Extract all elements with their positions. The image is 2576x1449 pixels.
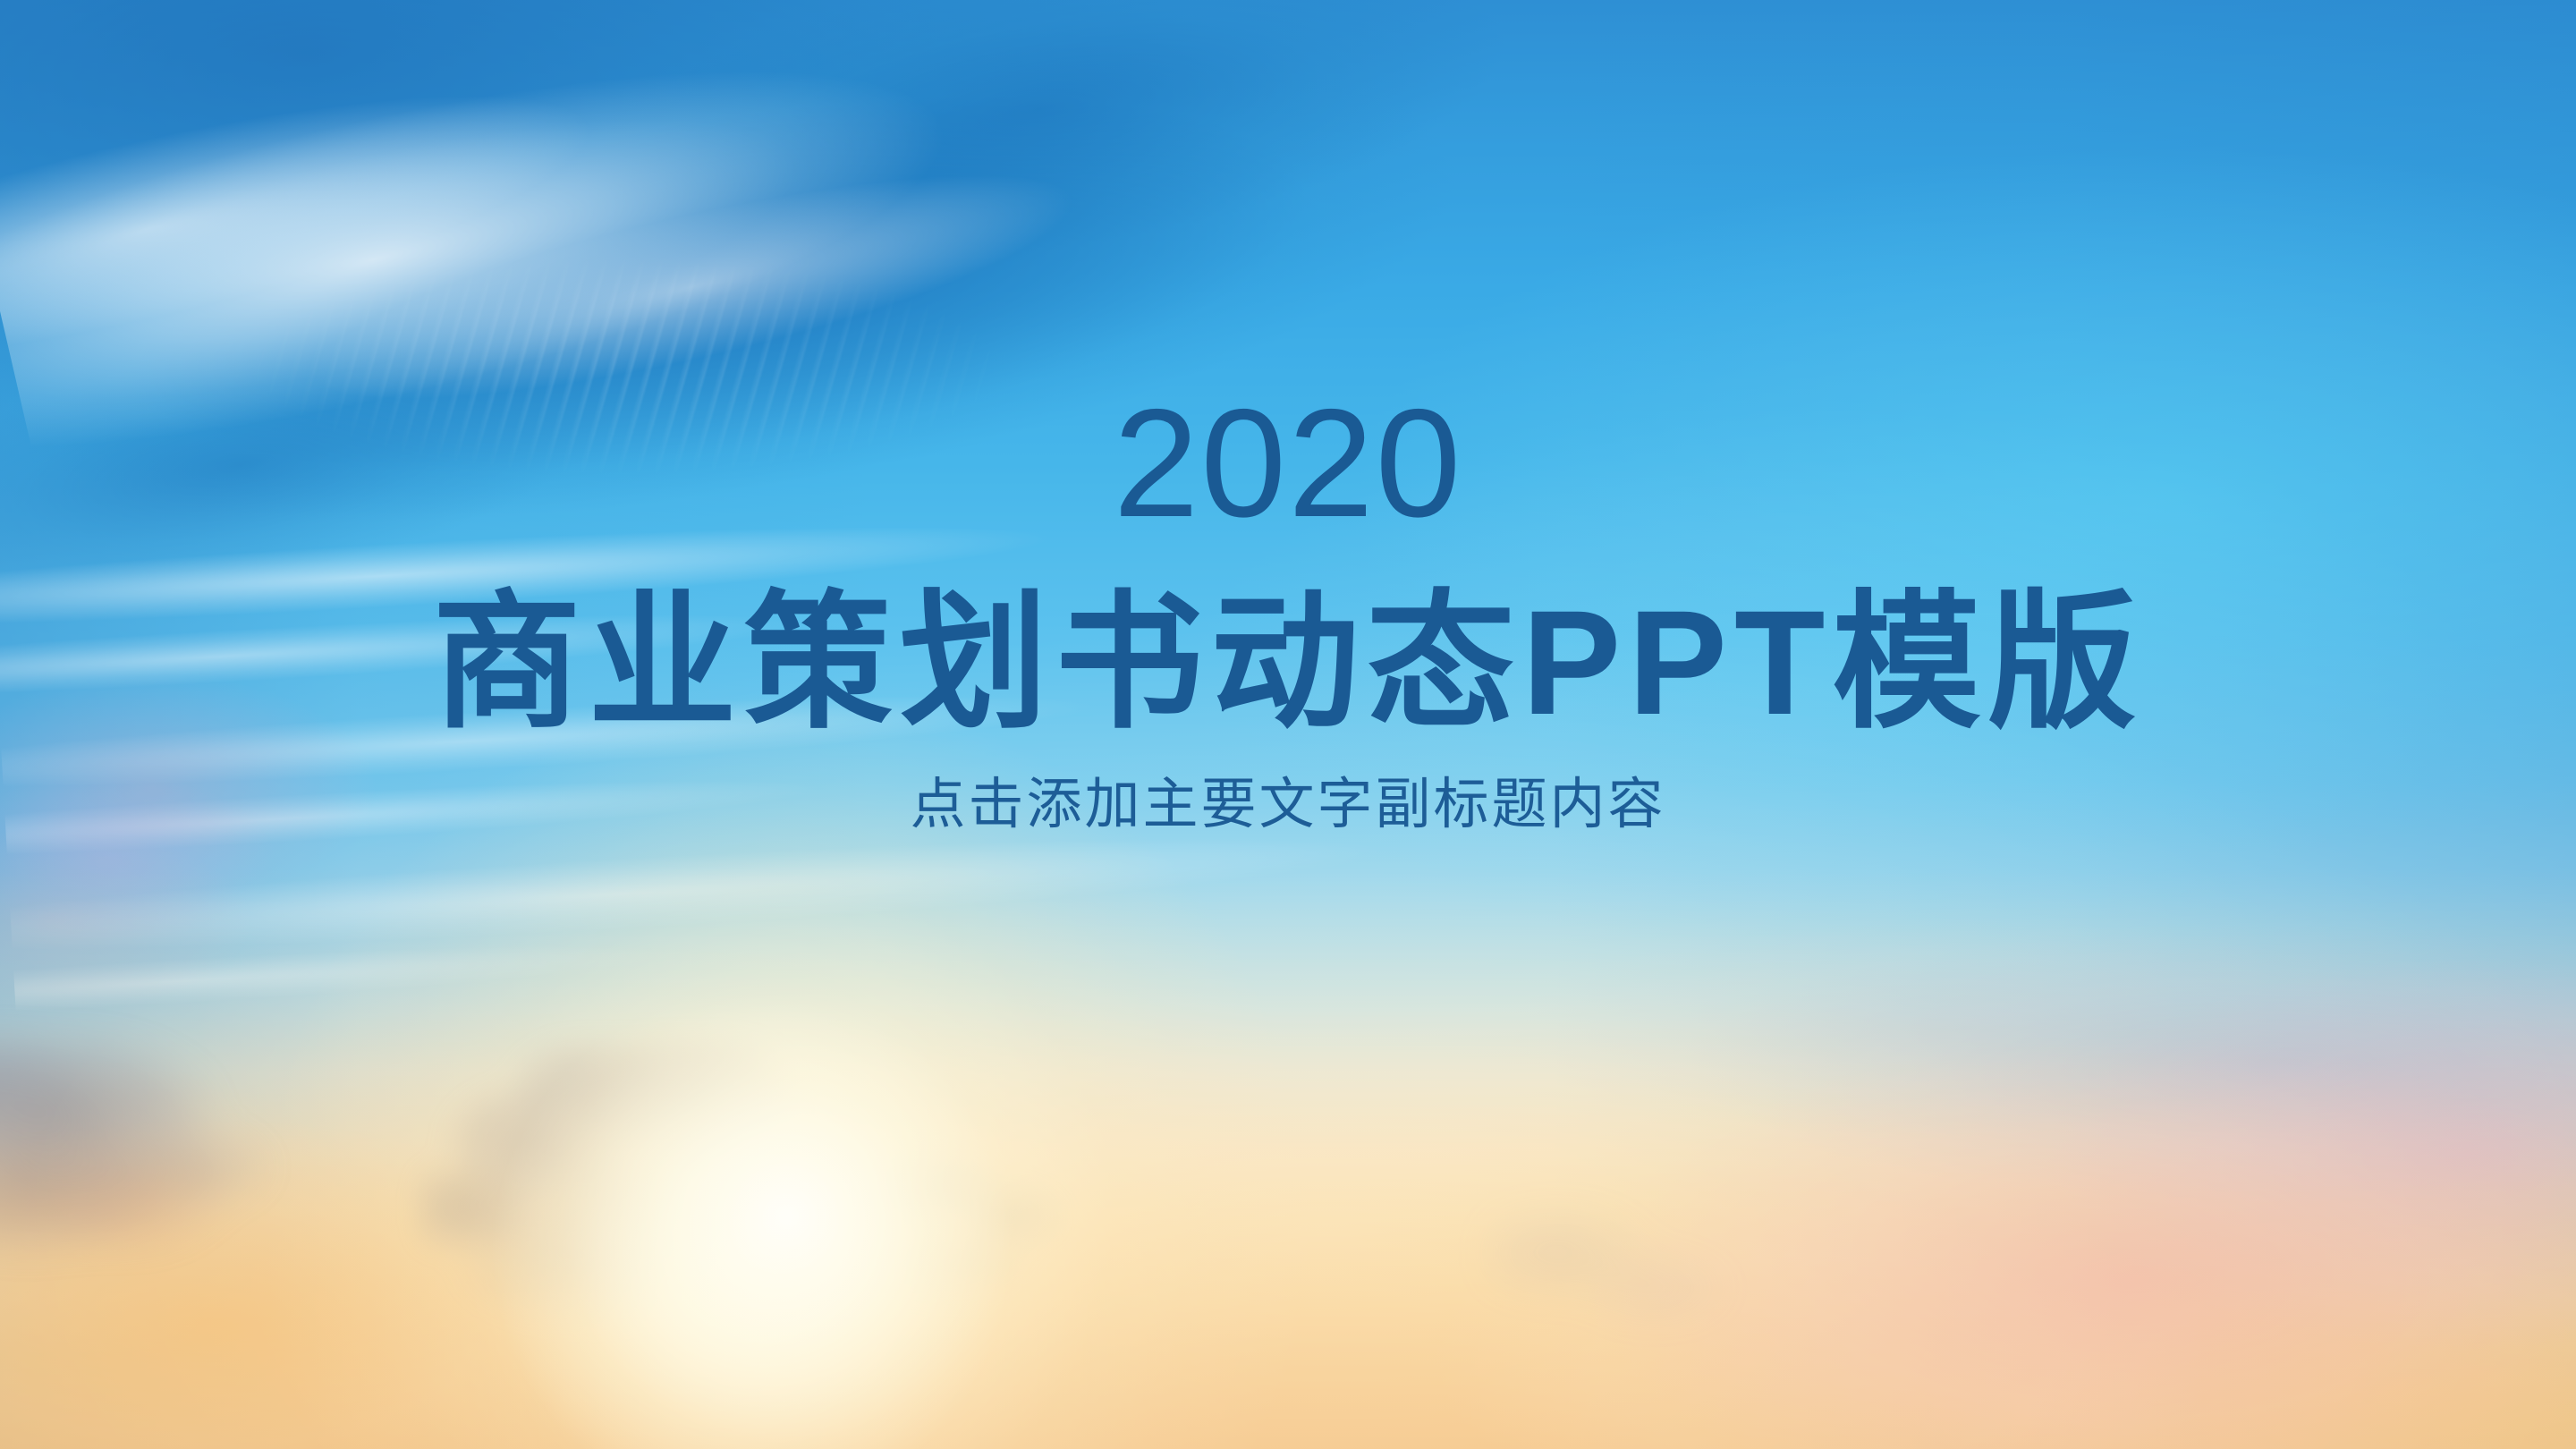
page-subtitle: 点击添加主要文字副标题内容 [910, 772, 1665, 838]
year-heading: 2020 [1114, 386, 1463, 540]
title-text-block: 2020 商业策划书动态PPT模版 点击添加主要文字副标题内容 [0, 0, 2576, 1449]
presentation-title-slide: 2020 商业策划书动态PPT模版 点击添加主要文字副标题内容 [0, 0, 2576, 1449]
page-title: 商业策划书动态PPT模版 [433, 583, 2144, 743]
